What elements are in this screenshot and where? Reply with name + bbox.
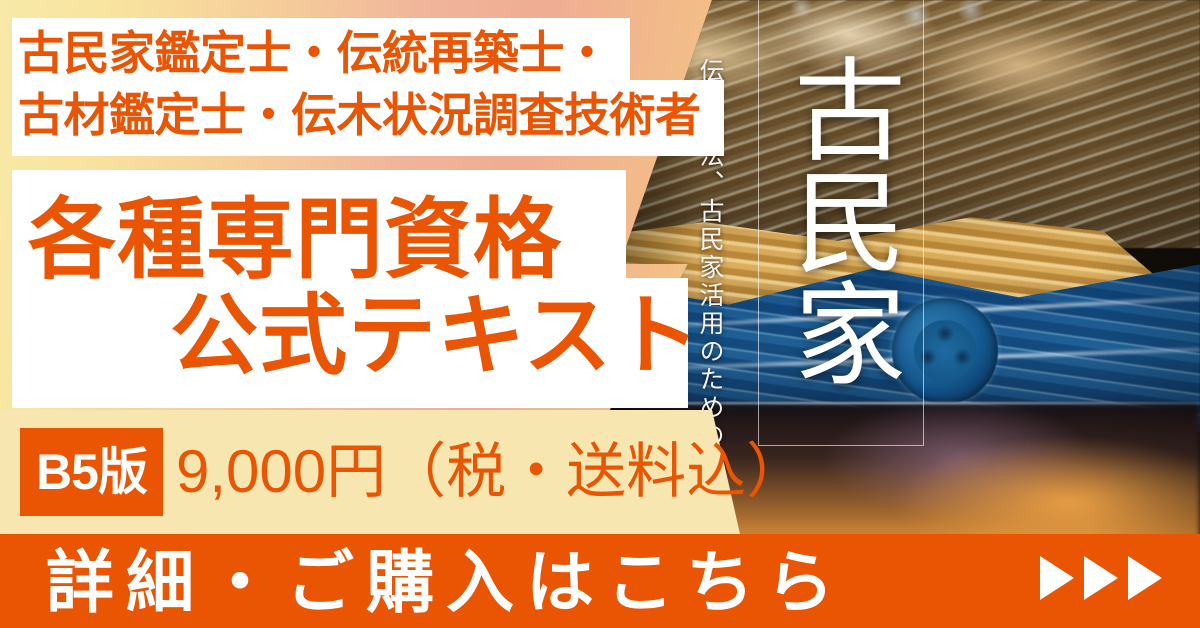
chevron-right-icon	[1128, 556, 1162, 600]
cta-label[interactable]: 詳細・ご購入はこちら	[46, 543, 846, 623]
certifications-line-1: 古民家鑑定士・伝統再築士・	[18, 22, 718, 84]
certifications-line-2: 古材鑑定士・伝木状況調査技術者	[18, 84, 718, 146]
cta-arrows[interactable]	[1040, 556, 1162, 600]
cover-title: 古民家	[778, 10, 908, 430]
chevron-right-icon	[1040, 556, 1074, 600]
size-badge: B5版	[20, 428, 163, 516]
chevron-right-icon	[1084, 556, 1118, 600]
headline-line-1: 各種専門資格	[28, 192, 562, 288]
price-amount: 9,000円（税・送料込）	[176, 430, 806, 514]
promo-banner: 古民家 伝統構法、古民家活用のための調査と再生の 古民家鑑定士・伝統再築士・ 古…	[0, 0, 1200, 628]
headline-line-2: 公式テキスト	[170, 288, 701, 384]
certifications-text: 古民家鑑定士・伝統再築士・ 古材鑑定士・伝木状況調査技術者	[18, 22, 718, 146]
